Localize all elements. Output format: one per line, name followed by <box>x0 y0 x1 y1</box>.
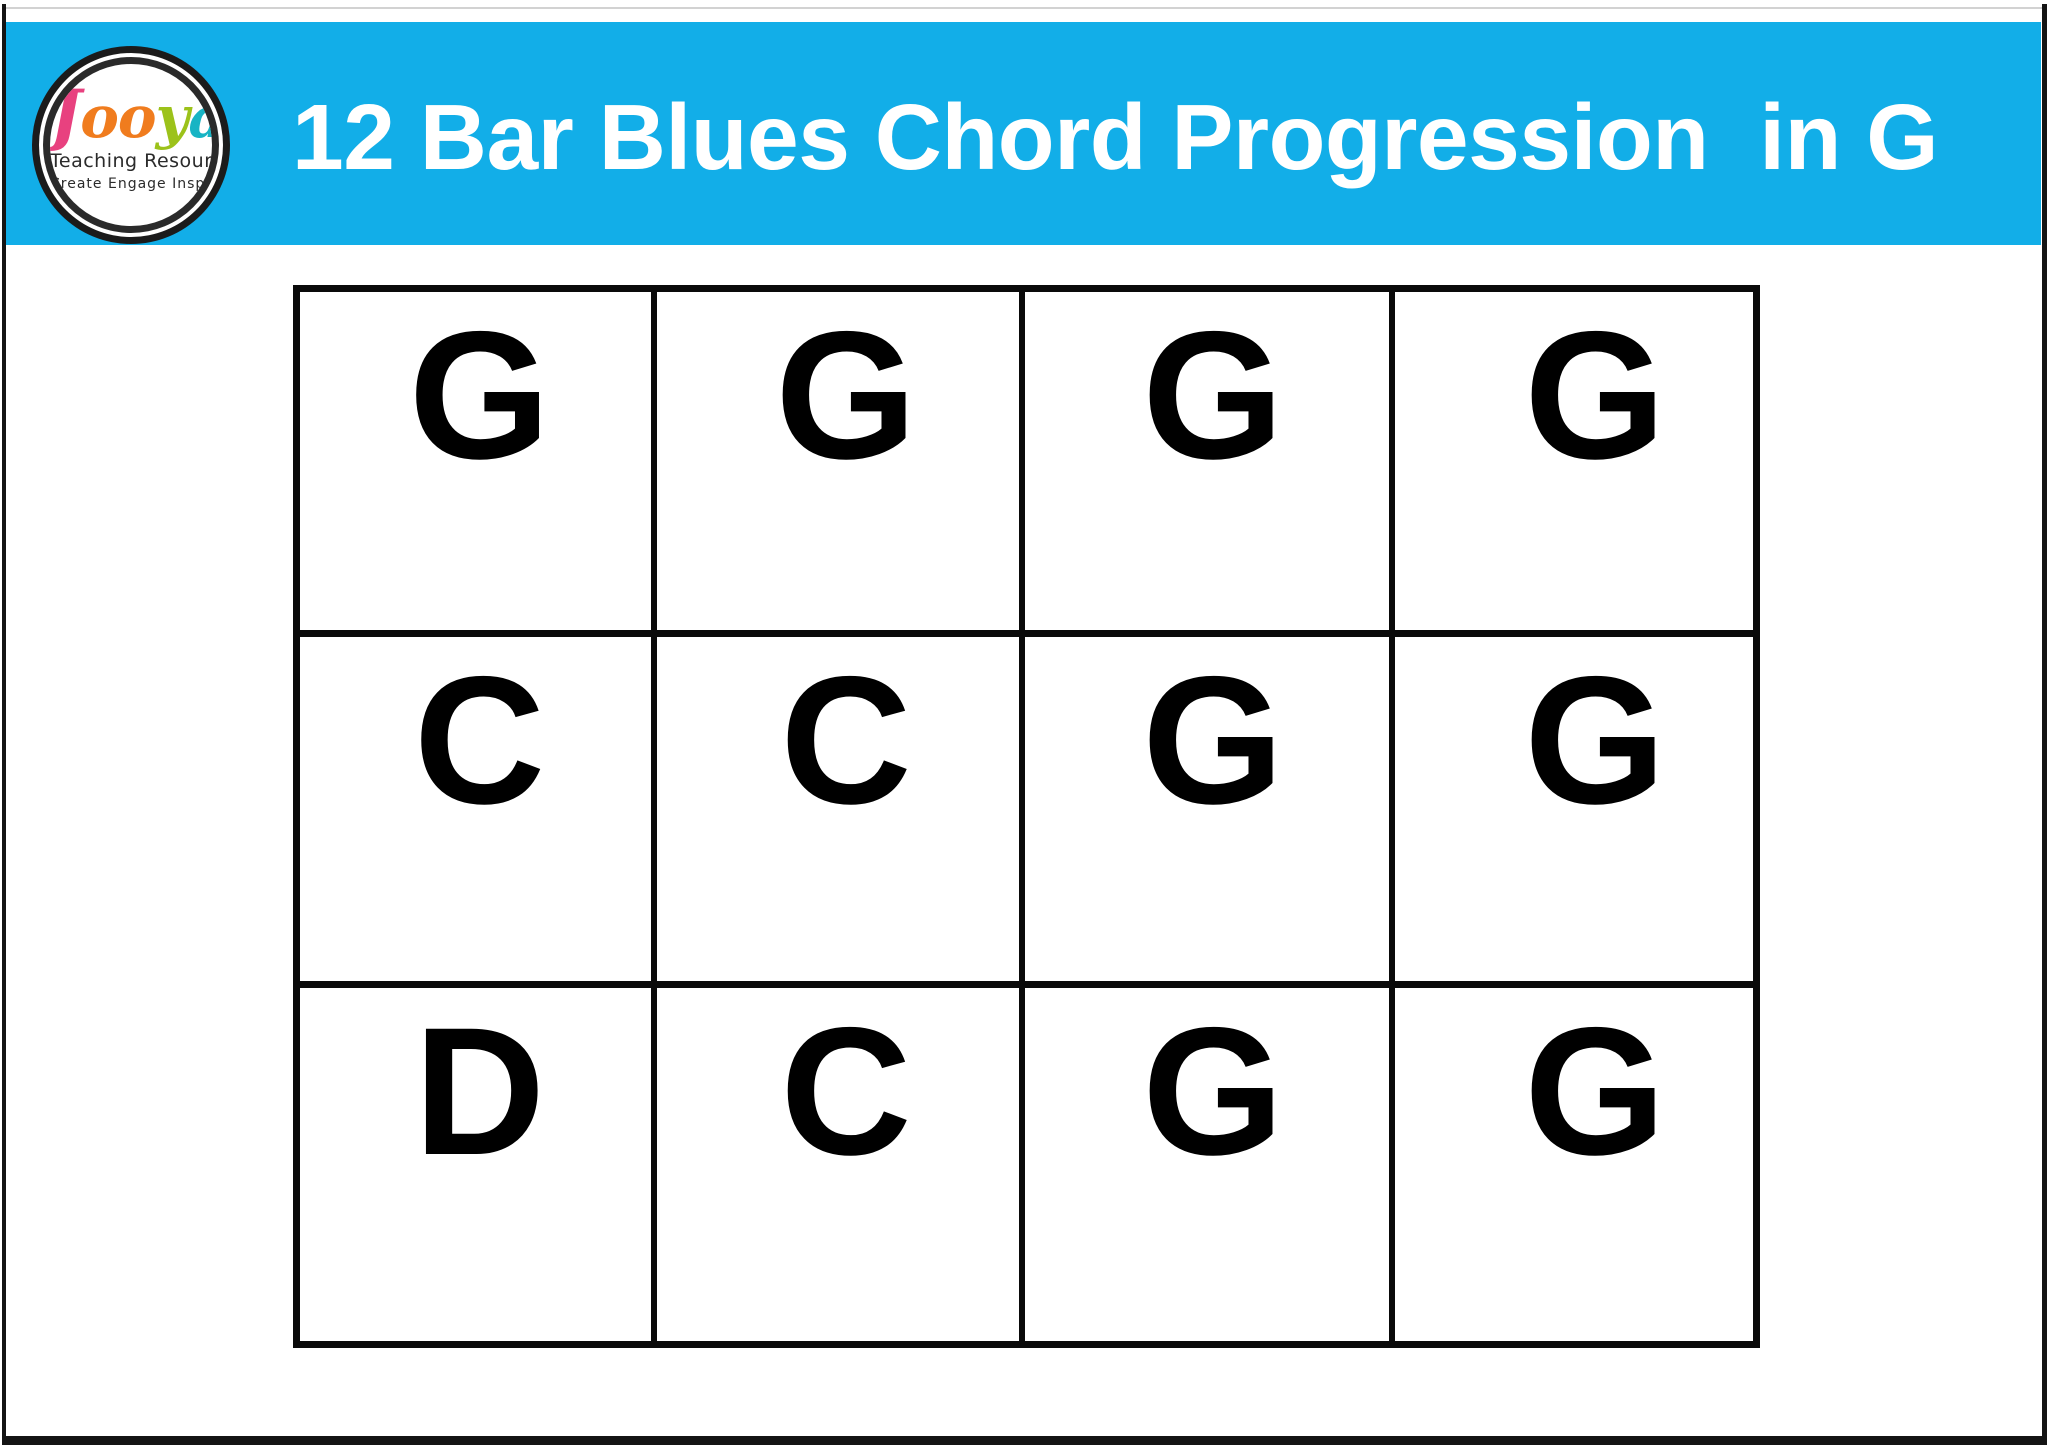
logo-disc: Jooya Teaching Resources Create Engage I… <box>50 64 212 226</box>
chord-cell-bar-1[interactable]: G <box>300 292 657 630</box>
chord-row-2: C C G G <box>300 637 1753 988</box>
chord-cell-bar-9[interactable]: D <box>300 988 657 1341</box>
chord-cell-bar-3[interactable]: G <box>1025 292 1395 630</box>
page-border-top <box>6 7 2043 9</box>
chord-cell-bar-2[interactable]: G <box>657 292 1025 630</box>
chord-progression-grid: G G G G C C G G D C G G <box>293 285 1760 1348</box>
chord-cell-bar-8[interactable]: G <box>1395 637 1747 981</box>
chord-row-1: G G G G <box>300 292 1753 637</box>
logo-letter-a: a <box>188 87 212 147</box>
chord-cell-bar-10[interactable]: C <box>657 988 1025 1341</box>
worksheet-page: Jooya Teaching Resources Create Engage I… <box>0 0 2048 1448</box>
chord-label: G <box>1419 300 1771 490</box>
chord-cell-bar-12[interactable]: G <box>1395 988 1747 1341</box>
chord-label: C <box>665 645 1027 835</box>
chord-cell-bar-6[interactable]: C <box>657 637 1025 981</box>
chord-label: G <box>1031 300 1395 490</box>
chord-label: G <box>1031 996 1395 1186</box>
chord-label: G <box>304 300 655 490</box>
logo-tagline-primary: Teaching Resources <box>50 150 212 172</box>
logo-tagline-secondary: Create Engage Inspire <box>50 176 212 192</box>
chord-cell-bar-4[interactable]: G <box>1395 292 1747 630</box>
page-border-bottom <box>2 1436 2047 1445</box>
chord-cell-bar-5[interactable]: C <box>300 637 657 981</box>
logo-letter-o1: o <box>80 87 118 147</box>
logo-letter-o2: o <box>118 87 156 147</box>
chord-label: G <box>1419 645 1771 835</box>
logo-letter-j: J <box>50 84 80 144</box>
page-title: 12 Bar Blues Chord Progression in G <box>292 74 2032 204</box>
chord-label: G <box>1031 645 1395 835</box>
title-banner: Jooya Teaching Resources Create Engage I… <box>6 22 2041 245</box>
chord-label: C <box>304 645 655 835</box>
chord-label: G <box>665 300 1027 490</box>
chord-cell-bar-7[interactable]: G <box>1025 637 1395 981</box>
logo-letter-y: y <box>156 87 189 147</box>
logo-wordmark: Jooya <box>50 84 212 147</box>
chord-row-3: D C G G <box>300 988 1753 1341</box>
chord-label: D <box>304 996 655 1186</box>
chord-label: C <box>665 996 1027 1186</box>
chord-label: G <box>1419 996 1771 1186</box>
jooya-logo: Jooya Teaching Resources Create Engage I… <box>32 46 230 244</box>
page-border-right <box>2042 4 2047 1444</box>
chord-cell-bar-11[interactable]: G <box>1025 988 1395 1341</box>
